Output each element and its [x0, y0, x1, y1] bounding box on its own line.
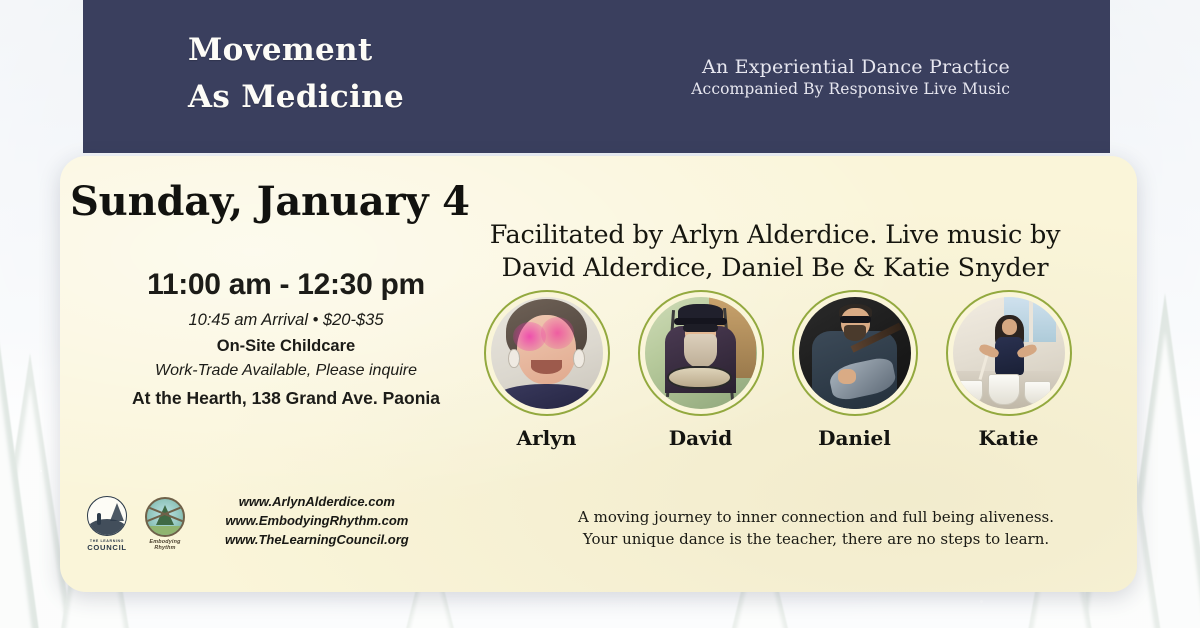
tagline-line-1: An Experiential Dance Practice [691, 56, 1010, 78]
arlyn-photo [491, 297, 603, 409]
portrait-ring [792, 290, 918, 416]
presenter-name: Arlyn [480, 426, 613, 450]
katie-photo [953, 297, 1065, 409]
quote-line-1: A moving journey to inner connection and… [578, 507, 1054, 528]
event-date: Sunday, January 4 [70, 178, 490, 225]
credits-line-2: David Alderdice, Daniel Be & Katie Snyde… [475, 252, 1075, 285]
presenter-name: Daniel [788, 426, 921, 450]
title-line-1: Movement [188, 27, 404, 74]
presenter-name: David [634, 426, 767, 450]
tagline-line-2: Accompanied By Responsive Live Music [691, 80, 1010, 98]
childcare-note: On-Site Childcare [70, 337, 502, 356]
quote-line-2: Your unique dance is the teacher, there … [578, 529, 1054, 550]
event-card: Sunday, January 4 11:00 am - 12:30 pm 10… [60, 156, 1137, 592]
presenter-david: David [634, 290, 767, 450]
page-title: Movement As Medicine [188, 27, 404, 121]
website-links: www.ArlynAlderdice.com www.EmbodyingRhyt… [225, 493, 409, 550]
website-link-council[interactable]: www.TheLearningCouncil.org [225, 531, 409, 550]
embodying-rhythm-logo[interactable]: Embodying Rhythm [143, 497, 187, 551]
website-link-arlyn[interactable]: www.ArlynAlderdice.com [225, 493, 409, 512]
title-line-2: As Medicine [188, 74, 404, 121]
presenter-daniel: Daniel [788, 290, 921, 450]
credits-text: Facilitated by Arlyn Alderdice. Live mus… [475, 219, 1075, 284]
embodying-rhythm-icon [145, 497, 185, 537]
logo-row: THE LEARNING COUNCIL Embodying Rhythm [85, 496, 187, 552]
header-tagline: An Experiential Dance Practice Accompani… [691, 56, 1010, 98]
header-banner: Movement As Medicine An Experiential Dan… [83, 0, 1110, 153]
event-time: 11:00 am - 12:30 pm [70, 268, 502, 302]
embodying-rhythm-logo-text: Embodying Rhythm [143, 539, 187, 551]
venue-address: At the Hearth, 138 Grand Ave. Paonia [70, 388, 502, 409]
presenter-portraits: Arlyn David [480, 290, 1075, 450]
presenter-name: Katie [942, 426, 1075, 450]
david-photo [645, 297, 757, 409]
learning-council-logo[interactable]: THE LEARNING COUNCIL [85, 496, 129, 552]
portrait-ring [484, 290, 610, 416]
work-trade-note: Work-Trade Available, Please inquire [70, 362, 502, 380]
event-details: 11:00 am - 12:30 pm 10:45 am Arrival • $… [70, 268, 502, 409]
presenter-katie: Katie [942, 290, 1075, 450]
website-link-rhythm[interactable]: www.EmbodyingRhythm.com [225, 512, 409, 531]
portrait-ring [946, 290, 1072, 416]
presenter-arlyn: Arlyn [480, 290, 613, 450]
learning-council-logo-text-main: COUNCIL [85, 543, 129, 552]
closing-quote: A moving journey to inner connection and… [578, 507, 1054, 550]
portrait-ring [638, 290, 764, 416]
credits-line-1: Facilitated by Arlyn Alderdice. Live mus… [475, 219, 1075, 252]
learning-council-icon [87, 496, 127, 536]
arrival-and-price: 10:45 am Arrival • $20-$35 [70, 311, 502, 330]
daniel-photo [799, 297, 911, 409]
